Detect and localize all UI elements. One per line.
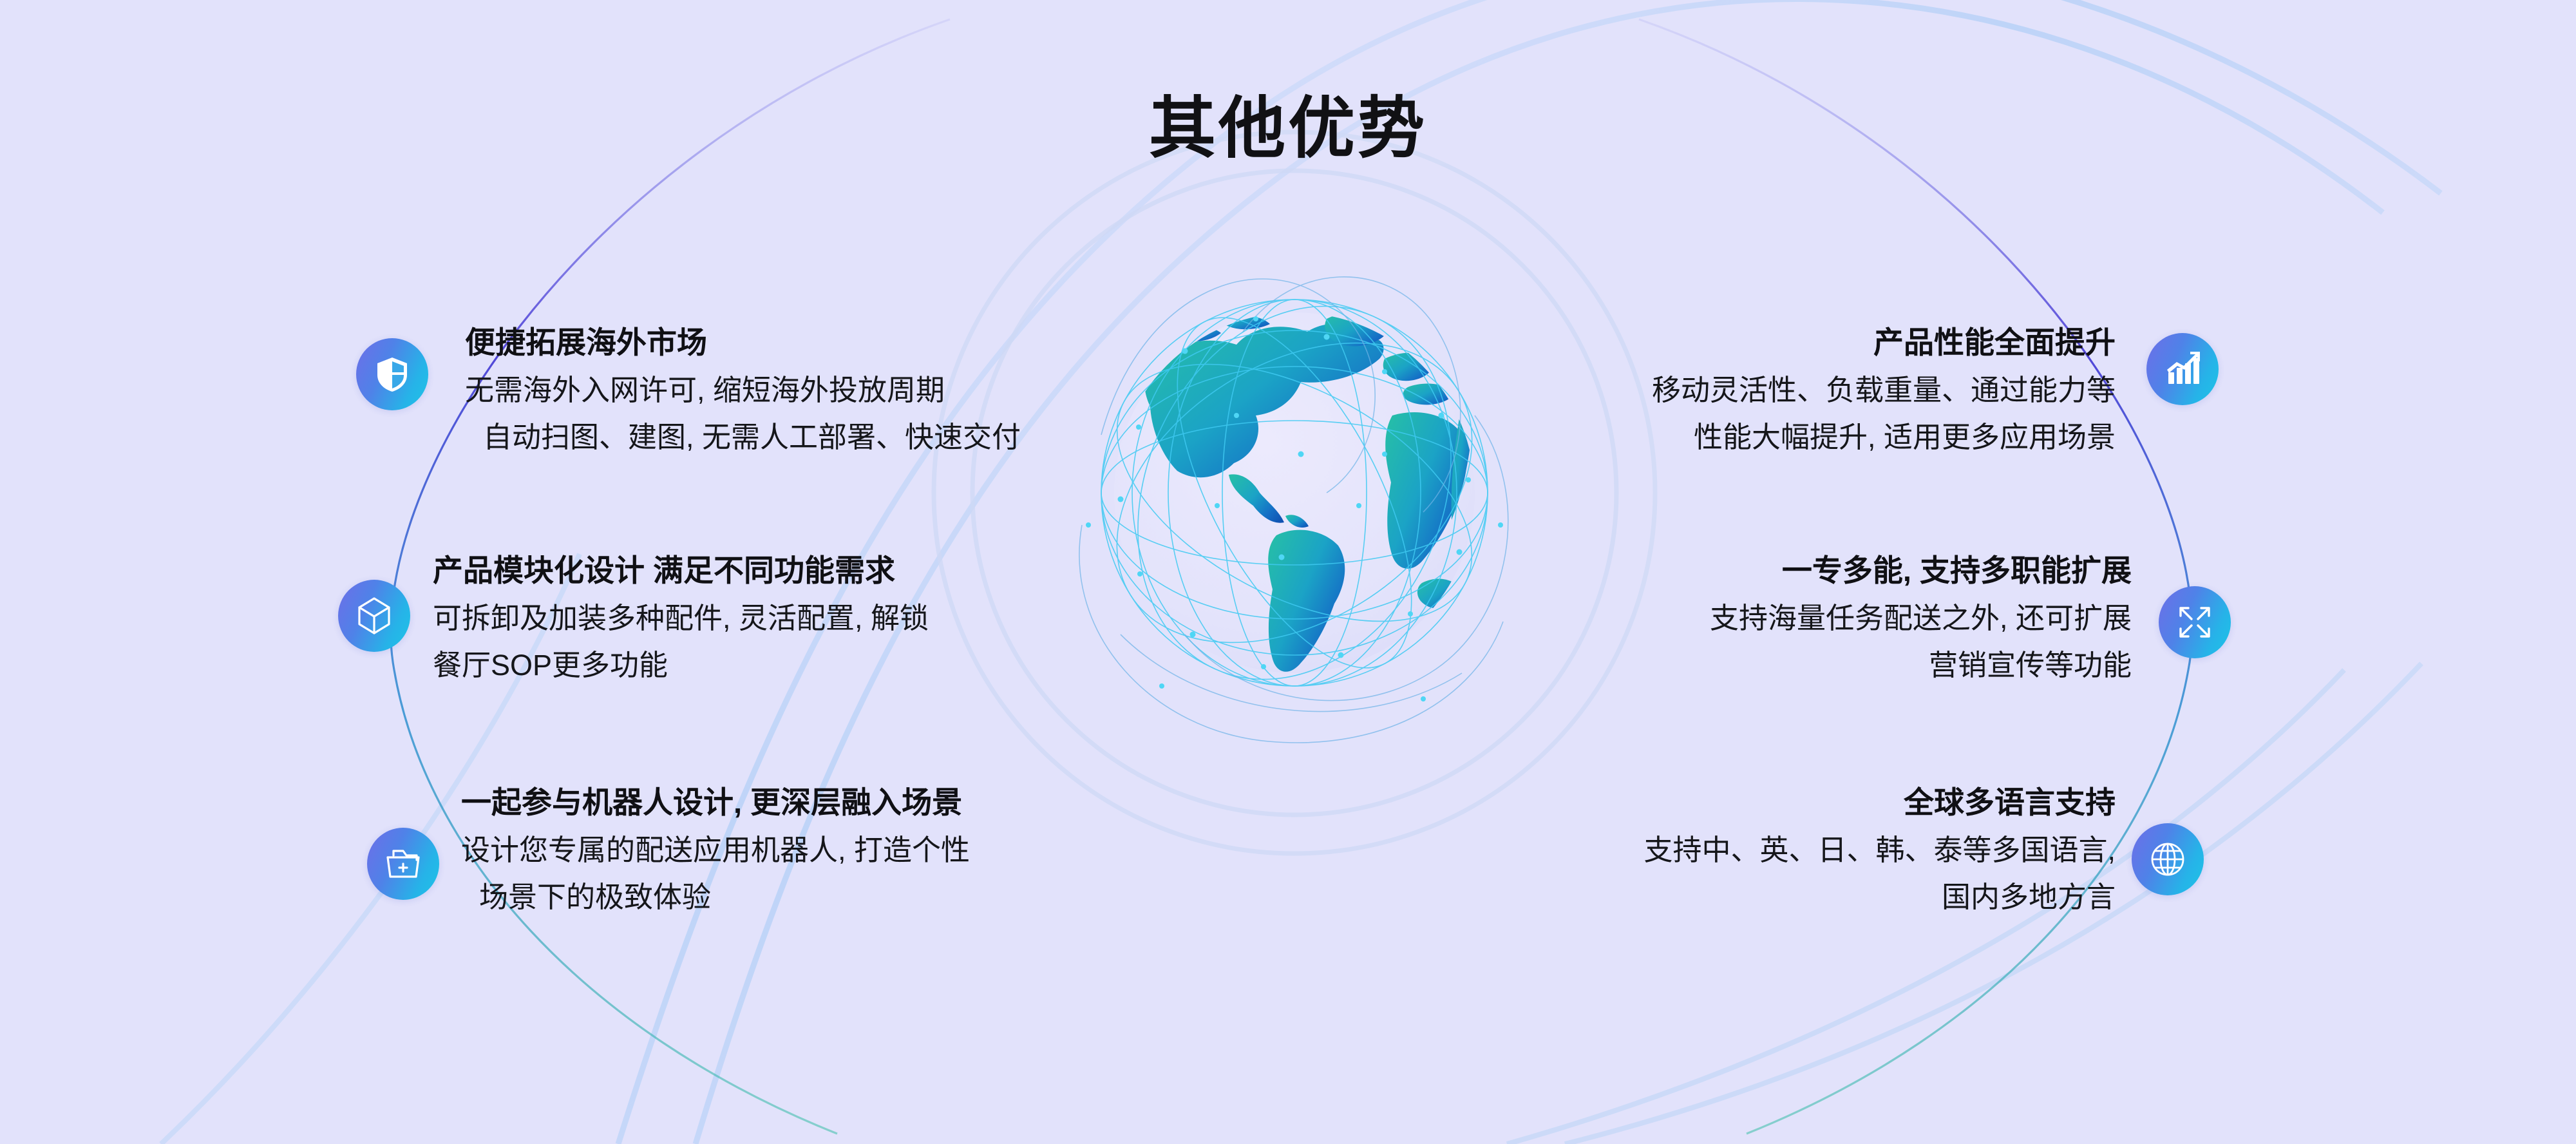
feature-right-1-heading: 产品性能全面提升 [1652,327,2116,357]
feature-right-3-heading: 全球多语言支持 [1643,787,2116,817]
infographic-stage: 其他优势 [0,0,2576,1144]
page-title: 其他优势 [0,95,2576,162]
feature-left-3-line-2: 场景下的极致体验 [461,882,970,911]
feature-right-3-line-1: 支持中、英、日、韩、泰等多国语言, [1643,835,2116,864]
feature-right-3: 全球多语言支持 支持中、英、日、韩、泰等多国语言, 国内多地方言 [1643,787,2116,911]
feature-left-1-line-2: 自动扫图、建图, 无需人工部署、快速交付 [465,423,1021,452]
folder-plus-icon [384,847,422,881]
feature-left-2-heading: 产品模块化设计 满足不同功能需求 [433,555,929,586]
feature-left-3-line-1: 设计您专属的配送应用机器人, 打造个性 [461,835,970,864]
badge-folder-plus[interactable] [367,828,439,900]
feature-left-1-line-1: 无需海外入网许可, 缩短海外投放周期 [465,376,1021,405]
feature-left-2-line-1: 可拆卸及加装多种配件, 灵活配置, 解锁 [433,604,929,633]
feature-left-1: 便捷拓展海外市场 无需海外入网许可, 缩短海外投放周期 自动扫图、建图, 无需人… [465,327,1021,452]
feature-right-3-line-2: 国内多地方言 [1643,882,2116,911]
badge-globe-grid[interactable] [2132,823,2204,895]
feature-left-1-heading: 便捷拓展海外市场 [465,327,1021,357]
feature-right-2-heading: 一专多能, 支持多职能扩展 [1710,555,2132,586]
feature-left-2-line-2: 餐厅SOP更多功能 [433,651,929,680]
earth-network-globe [1024,222,1565,763]
feature-left-3: 一起参与机器人设计, 更深层融入场景 设计您专属的配送应用机器人, 打造个性 场… [461,787,970,911]
feature-right-2-line-1: 支持海量任务配送之外, 还可扩展 [1710,604,2132,633]
growth-chart-icon [2164,352,2201,386]
cube-icon [355,596,393,636]
badge-cube[interactable] [338,580,410,652]
expand-arrows-icon [2177,604,2213,640]
feature-right-1-line-2: 性能大幅提升, 适用更多应用场景 [1652,423,2116,452]
feature-right-2: 一专多能, 支持多职能扩展 支持海量任务配送之外, 还可扩展 营销宣传等功能 [1710,555,2132,680]
feature-left-2: 产品模块化设计 满足不同功能需求 可拆卸及加装多种配件, 灵活配置, 解锁 餐厅… [433,555,929,680]
feature-right-2-line-2: 营销宣传等功能 [1710,651,2132,680]
badge-growth-chart[interactable] [2146,333,2219,405]
feature-left-3-heading: 一起参与机器人设计, 更深层融入场景 [461,787,970,817]
globe-grid-icon [2150,841,2186,877]
feature-right-1-line-1: 移动灵活性、负载重量、通过能力等 [1652,376,2116,405]
badge-shield[interactable] [356,338,428,410]
badge-expand-arrows[interactable] [2159,586,2231,658]
feature-right-1: 产品性能全面提升 移动灵活性、负载重量、通过能力等 性能大幅提升, 适用更多应用… [1652,327,2116,452]
shield-icon [374,356,410,393]
